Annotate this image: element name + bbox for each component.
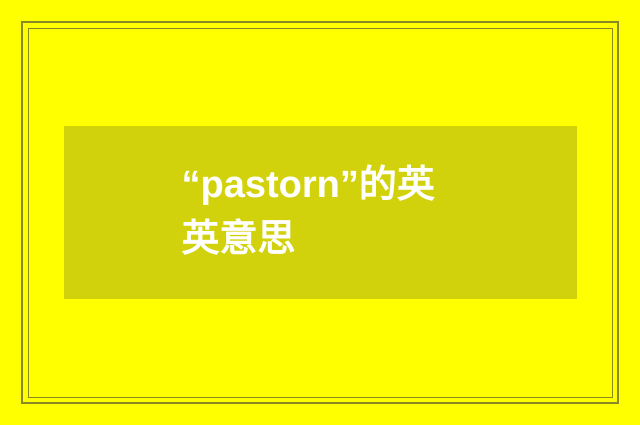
poster-canvas: “pastorn”的英英意思	[0, 0, 640, 425]
page-title: “pastorn”的英英意思	[182, 159, 472, 267]
title-panel: “pastorn”的英英意思	[64, 126, 577, 299]
